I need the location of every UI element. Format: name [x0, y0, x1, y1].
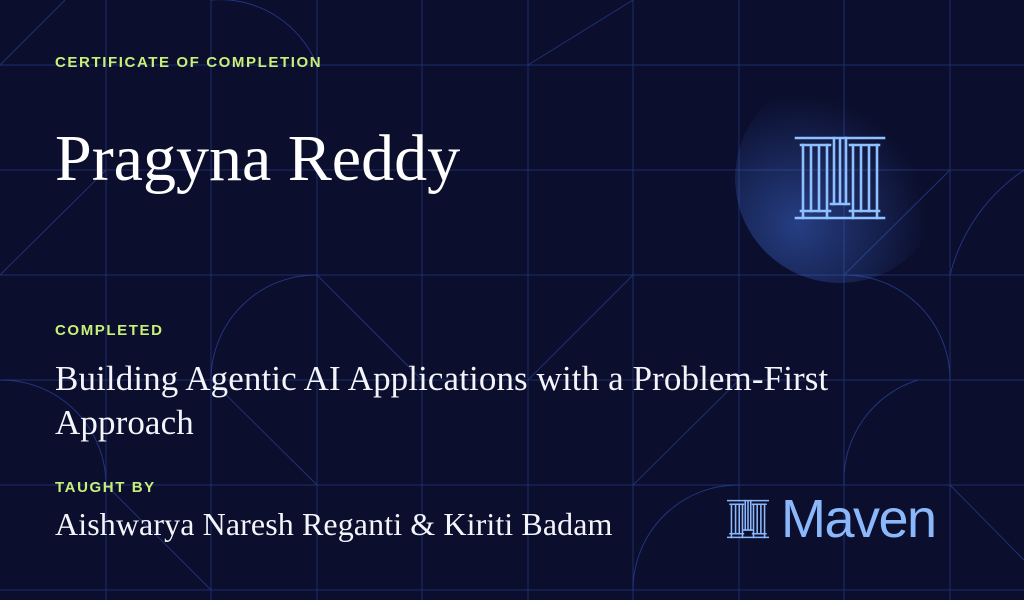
course-title: Building Agentic AI Applications with a … — [55, 357, 885, 445]
maven-wordmark-text: Maven — [781, 492, 936, 546]
recipient-name: Pragyna Reddy — [55, 124, 460, 193]
maven-wordmark: Maven — [725, 492, 936, 546]
completed-label: COMPLETED — [55, 322, 164, 339]
certificate-kicker: CERTIFICATE OF COMPLETION — [55, 54, 322, 71]
maven-pillars-icon — [790, 128, 890, 228]
maven-pillars-icon — [725, 494, 771, 544]
instructor-names: Aishwarya Naresh Reganti & Kiriti Badam — [55, 506, 613, 543]
taught-by-label: TAUGHT BY — [55, 479, 156, 496]
certificate-card: CERTIFICATE OF COMPLETION Pragyna Reddy … — [0, 0, 1024, 600]
